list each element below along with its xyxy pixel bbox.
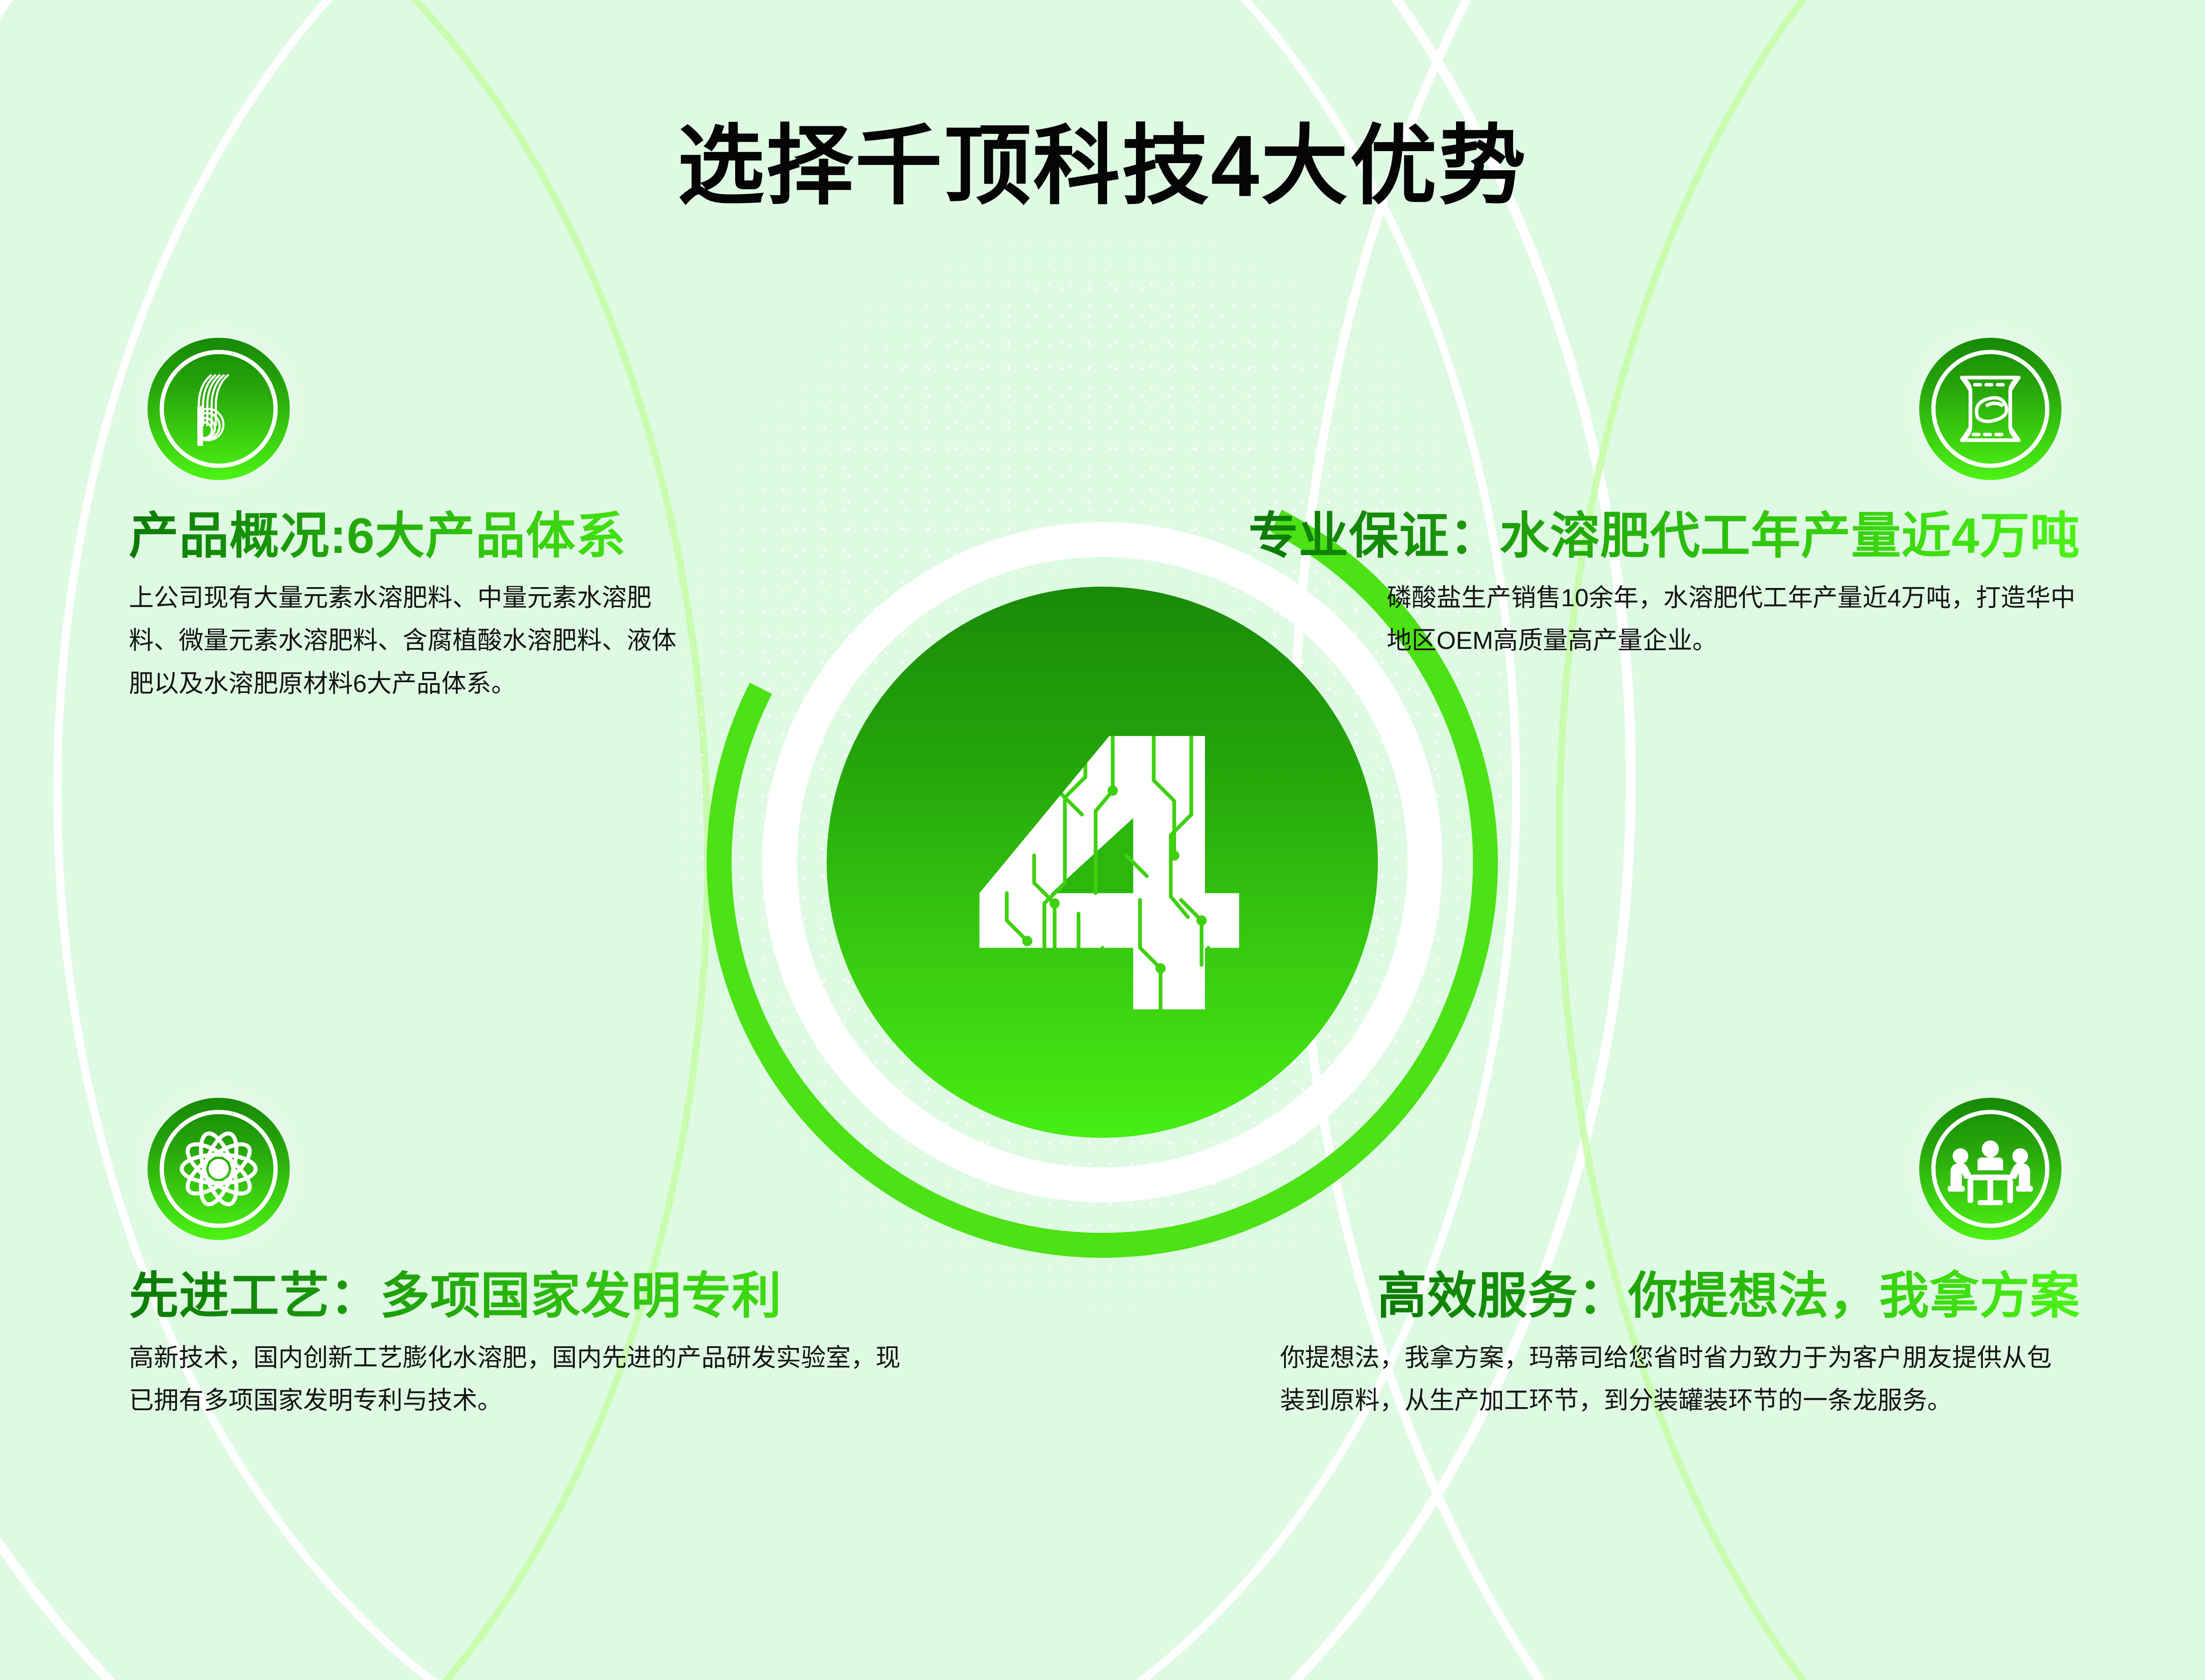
advantage-title: 先进工艺：多项国家发明专利	[129, 1269, 929, 1323]
meeting-table-people-icon	[1919, 1098, 2061, 1240]
advantage-body: 高新技术，国内创新工艺膨化水溶肥，国内先进的产品研发实验室，现已拥有多项国家发明…	[129, 1336, 902, 1422]
advantage-title: 专业保证：水溶肥代工年产量近4万吨	[1249, 509, 2080, 563]
fertilizer-bag-icon	[1919, 338, 2061, 480]
atom-icon	[148, 1098, 290, 1240]
circuit-four-numeral-icon	[932, 692, 1273, 1033]
page-title: 选择千顶科技4大优势	[0, 96, 2205, 221]
advantage-body: 上公司现有大量元素水溶肥料、中量元素水溶肥料、微量元素水溶肥料、含腐植酸水溶肥料…	[129, 576, 684, 705]
advantage-card-top-left: 产品概况:6大产品体系 上公司现有大量元素水溶肥料、中量元素水溶肥料、微量元素水…	[129, 338, 702, 705]
advantage-body: 磷酸盐生产销售10余年，水溶肥代工年产量近4万吨，打造华中地区OEM高质量高产量…	[1387, 576, 2080, 662]
numeral-six-circle-icon	[148, 338, 290, 480]
advantage-card-top-right: 专业保证：水溶肥代工年产量近4万吨 磷酸盐生产销售10余年，水溶肥代工年产量近4…	[1165, 338, 2080, 662]
advantage-title: 产品概况:6大产品体系	[129, 509, 702, 563]
advantage-card-bottom-left: 先进工艺：多项国家发明专利 高新技术，国内创新工艺膨化水溶肥，国内先进的产品研发…	[129, 1098, 929, 1422]
hero-core-circle	[827, 587, 1378, 1138]
advantage-title: 高效服务：你提想法，我拿方案	[1377, 1269, 2080, 1323]
advantage-body: 你提想法，我拿方案，玛蒂司给您省时省力致力于为客户朋友提供从包装到原料，从生产加…	[1280, 1336, 2062, 1422]
advantage-card-bottom-right: 高效服务：你提想法，我拿方案 你提想法，我拿方案，玛蒂司给您省时省力致力于为客户…	[1280, 1098, 2080, 1422]
